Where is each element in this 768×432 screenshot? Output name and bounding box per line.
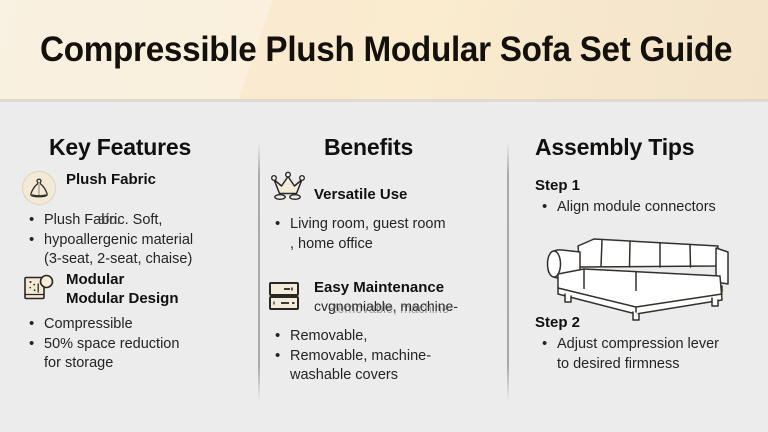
column-assembly-tips: Assembly Tips Step 1 Align module connec… (520, 101, 754, 432)
list-item: Removable, machine- (268, 347, 502, 367)
list-item: 50% space reduction (22, 335, 254, 355)
feature-title: Easy Maintenance (314, 278, 458, 297)
feature-subtitle: cvgnomiable, machine- Removable, machine… (314, 297, 458, 316)
feature-titles: Plush Fabric (66, 170, 156, 189)
feature-titles: Easy Maintenance cvgnomiable, machine- R… (314, 278, 458, 316)
step-label: Step 2 (535, 313, 768, 333)
column-divider-1 (258, 143, 260, 401)
feature-header: Versatile Use (268, 169, 502, 203)
feature-bullets: Living room, guest room , home office (268, 215, 502, 254)
step-label: Step 1 (535, 176, 768, 196)
column-title-benefits: Benefits (324, 134, 413, 161)
assembly-step-2: Step 2 Adjust compression lever to desir… (535, 313, 768, 374)
column-key-features: Key Features Plush Fabri (22, 101, 254, 432)
column-divider-2 (507, 143, 509, 401)
lamp-icon (22, 171, 56, 205)
column-title-assembly-tips: Assembly Tips (535, 134, 694, 161)
feature-versatile-use: Versatile Use Living room, guest room , … (268, 169, 502, 254)
list-item-continuation: , home office (268, 235, 502, 255)
feature-header: Easy Maintenance cvgnomiable, machine- R… (268, 279, 502, 313)
columns-area: Key Features Plush Fabri (0, 101, 768, 432)
list-item: Removable, (268, 327, 502, 347)
list-item-continuation: for storage (22, 354, 254, 374)
feature-title: Versatile Use (314, 185, 407, 204)
feature-title: Modular (66, 270, 179, 289)
feature-bullets: Plush Fabric. Soft, afo. hypoallergenic … (22, 211, 254, 270)
list-item: Plush Fabric. Soft, afo. (22, 211, 254, 231)
ghost-overlay-text: Removable, machine- (328, 299, 453, 318)
feature-subtitle: Modular Design (66, 289, 179, 308)
list-item: hypoallergenic material (22, 231, 254, 251)
list-item: Adjust compression lever (535, 335, 768, 355)
list-item: Align module connectors (535, 198, 768, 218)
list-item: Compressible (22, 315, 254, 335)
list-item-continuation: washable covers (268, 366, 502, 386)
feature-header: Plush Fabric (22, 171, 254, 205)
list-item: Living room, guest room (268, 215, 502, 235)
column-benefits: Benefits Versat (268, 101, 502, 432)
feature-bullets: Compressible 50% space reduction for sto… (22, 315, 254, 374)
ghost-overlay-text: afo. (98, 211, 120, 231)
header-banner: Compressible Plush Modular Sofa Set Guid… (0, 0, 768, 101)
feature-titles: Modular Modular Design (66, 270, 179, 308)
drawers-icon (268, 279, 306, 315)
column-title-key-features: Key Features (49, 134, 191, 161)
sofa-line-art-illustration (532, 226, 748, 318)
crown-icon (268, 169, 306, 205)
step-bullets: Adjust compression lever to desired firm… (535, 335, 768, 374)
feature-bullets: Removable, Removable, machine- washable … (268, 327, 502, 386)
feature-easy-maintenance: Easy Maintenance cvgnomiable, machine- R… (268, 279, 502, 386)
assembly-step-1: Step 1 Align module connectors (535, 176, 768, 218)
step-bullets: Align module connectors (535, 198, 768, 218)
feature-modular-design: Modular Modular Design Compressible 50% … (22, 271, 254, 374)
feature-plush-fabric: Plush Fabric Plush Fabric. Soft, afo. hy… (22, 171, 254, 270)
feature-title: Plush Fabric (66, 170, 156, 189)
infographic-slide: Compressible Plush Modular Sofa Set Guid… (0, 0, 768, 432)
page-title: Compressible Plush Modular Sofa Set Guid… (40, 27, 732, 73)
document-badge-icon (22, 271, 56, 305)
list-item-continuation: to desired firmness (535, 355, 768, 375)
list-item-continuation: (3-seat, 2-seat, chaise) (22, 250, 254, 270)
feature-titles: Versatile Use (314, 185, 407, 204)
feature-header: Modular Modular Design (22, 271, 254, 305)
